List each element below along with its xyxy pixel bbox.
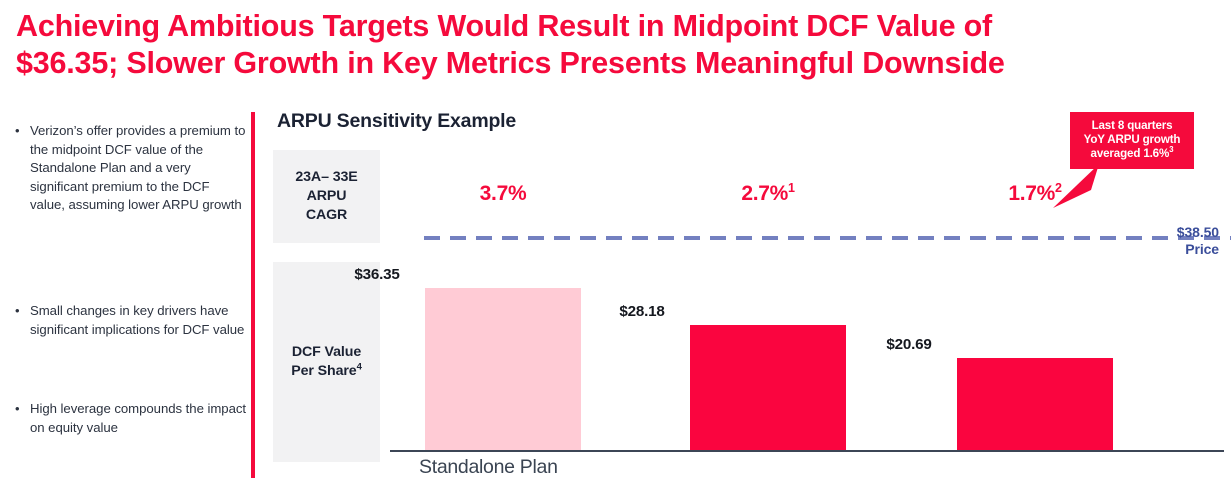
- callout-line-2: YoY ARPU growth: [1084, 133, 1181, 146]
- row-label-line-2: Per Share: [291, 363, 356, 379]
- chart-panel: ARPU Sensitivity Example 23A– 33E ARPU C…: [264, 104, 1224, 495]
- list-item-label: Verizon’s offer provides a premium to th…: [30, 122, 248, 215]
- row-label-dcf-value-per-share: DCF Value Per Share4: [273, 262, 380, 462]
- page-title-line-1: Achieving Ambitious Targets Would Result…: [16, 9, 992, 43]
- slide-root: Achieving Ambitious Targets Would Result…: [0, 0, 1231, 495]
- bullet-dot-icon: •: [12, 302, 30, 321]
- cagr-footnote: 1: [788, 181, 795, 195]
- row-label-line-3: CAGR: [306, 207, 347, 223]
- cagr-value-0: 3.7%: [425, 182, 581, 206]
- row-label-line-1: 23A– 33E: [295, 169, 357, 185]
- list-item: • Verizon’s offer provides a premium to …: [12, 122, 248, 215]
- bar-2: [957, 358, 1113, 452]
- callout-box: Last 8 quarters YoY ARPU growth averaged…: [1070, 112, 1194, 169]
- vertical-divider: [251, 112, 255, 478]
- callout-pointer-icon: [1053, 164, 1099, 208]
- callout-footnote: 3: [1169, 146, 1173, 155]
- cagr-value-text: 3.7%: [480, 182, 527, 205]
- chart-title: ARPU Sensitivity Example: [277, 110, 516, 133]
- bar-value-label-0: $36.35: [299, 266, 455, 283]
- row-label-line-2: ARPU: [307, 188, 347, 204]
- bar-value-label-1: $28.18: [564, 303, 720, 320]
- bar-0: [425, 288, 581, 452]
- sidebar-bullet-list: • Verizon’s offer provides a premium to …: [12, 112, 248, 478]
- list-item: • High leverage compounds the impact on …: [12, 400, 248, 437]
- bar-1: [690, 325, 846, 452]
- callout-line-1: Last 8 quarters: [1092, 119, 1173, 132]
- page-title: Achieving Ambitious Targets Would Result…: [16, 8, 1221, 82]
- list-item-label: High leverage compounds the impact on eq…: [30, 400, 248, 437]
- row-label-line-1: DCF Value: [292, 344, 361, 360]
- list-item-label: Small changes in key drivers have signif…: [30, 302, 248, 339]
- page-title-line-2: $36.35; Slower Growth in Key Metrics Pre…: [16, 45, 1221, 82]
- cagr-value-text: 1.7%: [1008, 182, 1055, 205]
- list-item: • Small changes in key drivers have sign…: [12, 302, 248, 339]
- price-reference-label: $38.50 Price: [1177, 224, 1219, 258]
- bullet-dot-icon: •: [12, 122, 30, 141]
- row-label-footnote: 4: [357, 361, 362, 372]
- row-label-arpu-cagr: 23A– 33E ARPU CAGR: [273, 150, 380, 243]
- bullet-dot-icon: •: [12, 400, 30, 419]
- cagr-value-text: 2.7%: [741, 182, 788, 205]
- x-axis-label: Standalone Plan: [419, 456, 558, 479]
- bar-value-label-2: $20.69: [831, 336, 987, 353]
- price-reference-value: $38.50: [1177, 224, 1219, 240]
- callout-line-3: averaged 1.6%: [1091, 147, 1170, 160]
- price-reference-caption: Price: [1185, 241, 1219, 257]
- price-reference-line: [424, 236, 1231, 240]
- plot-area: [390, 262, 1224, 452]
- cagr-value-1: 2.7%1: [690, 182, 846, 206]
- x-axis-line: [390, 450, 1224, 452]
